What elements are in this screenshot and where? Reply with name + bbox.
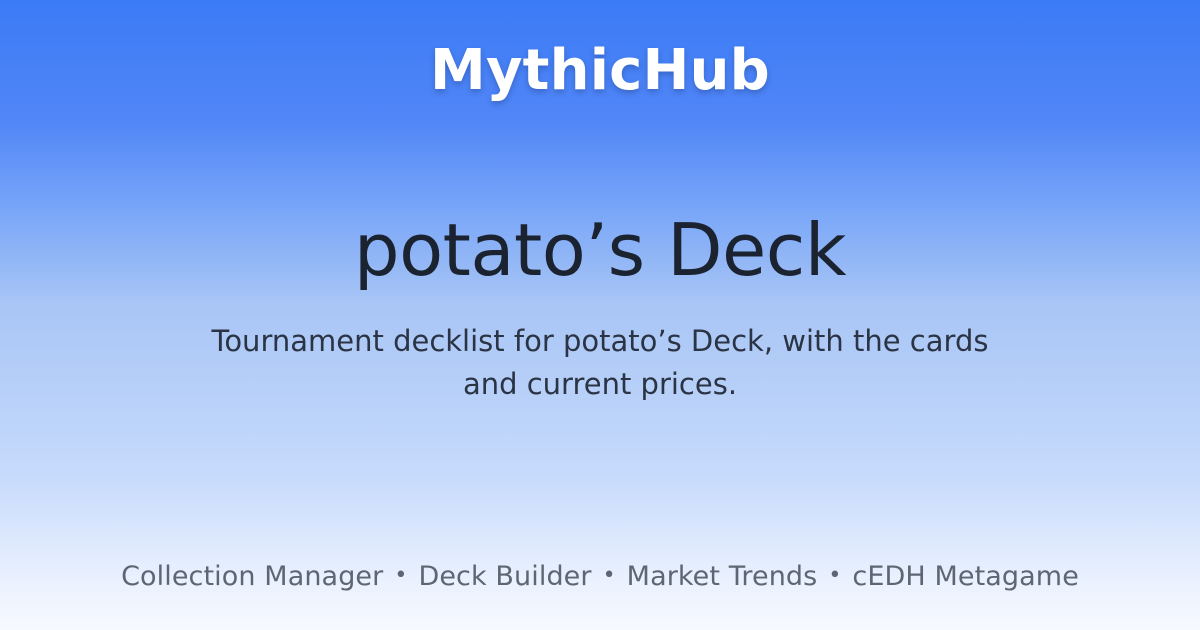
bullet-separator-icon: •: [603, 565, 616, 587]
bullet-separator-icon: •: [394, 565, 407, 587]
footer-links: Collection Manager • Deck Builder • Mark…: [121, 561, 1079, 592]
footer: Collection Manager • Deck Builder • Mark…: [0, 561, 1200, 592]
brand-header: MythicHub: [0, 42, 1200, 101]
brand-name: MythicHub: [430, 42, 770, 101]
open-graph-card: MythicHub potato’s Deck Tournament deckl…: [0, 0, 1200, 630]
footer-link-cedh-metagame: cEDH Metagame: [852, 561, 1079, 592]
footer-link-market-trends: Market Trends: [627, 561, 818, 592]
bullet-separator-icon: •: [828, 565, 841, 587]
footer-link-deck-builder: Deck Builder: [418, 561, 591, 592]
footer-link-collection-manager: Collection Manager: [121, 561, 383, 592]
hero-section: potato’s Deck Tournament decklist for po…: [0, 101, 1200, 561]
page-description: Tournament decklist for potato’s Deck, w…: [185, 320, 1015, 407]
page-title: potato’s Deck: [354, 211, 846, 290]
